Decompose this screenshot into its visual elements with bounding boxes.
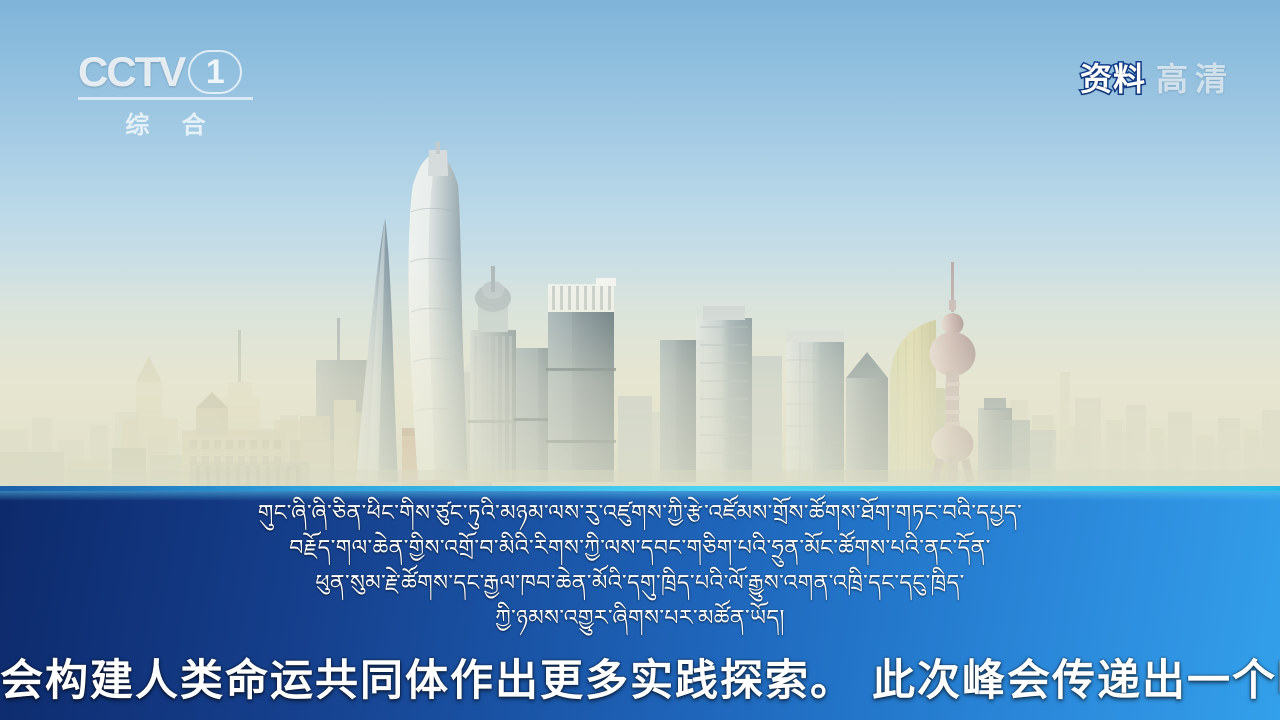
tibetan-subtitle-line: ཕུན་སུམ་རྗེ་ཚོགས་དང་རྒྱལ་ཁབ་ཆེན་མོའི་དགུ… [315,566,964,601]
chinese-subtitle-line: 会构建人类命运共同体作出更多实践探索。 此次峰会传递出一个明确信号，就是上合组织 [0,646,1280,708]
subtitle-banner: གུང་ཞི་ཞི་ཅིན་ཕིང་གིས་ཙུང་ཏུའི་མཉམ་ལས་རུ… [0,486,1280,720]
tibetan-subtitle-line: གུང་ཞི་ཞི་ཅིན་ཕིང་གིས་ཙུང་ཏུའི་མཉམ་ལས་རུ… [258,496,1022,531]
atmospheric-haze [0,250,1280,490]
tibetan-subtitle-line: བརྗོད་གལ་ཆེན་གྱིས་འགྲོ་བ་མིའི་རིགས་ཀྱི་ལ… [289,531,990,566]
tibetan-subtitle-block: གུང་ཞི་ཞི་ཅིན་ཕིང་གིས་ཙུང་ཏུའི་མཉམ་ལས་རུ… [0,496,1280,636]
tibetan-subtitle-line: ཀྱི་ཉམས་འགྱུར་ཞིགས་པར་མཚོན་ཡོད། [495,601,785,636]
hd-badge: 高清 [1156,54,1234,100]
archive-footage-badge: 资料 [1080,54,1146,100]
top-right-badges: 资料 高清 [1080,54,1234,100]
logo-callsign: CCTV [78,50,184,94]
cctv-channel-logo: CCTV 1 综 合 [78,50,263,138]
logo-underline [78,97,253,100]
logo-channel-name: 综 合 [78,105,253,140]
logo-channel-number: 1 [188,50,242,94]
broadcast-screen: CCTV 1 综 合 资料 高清 གུང་ཞི་ཞི་ཅིན་ཕིང་གིས་ཙ… [0,0,1280,720]
